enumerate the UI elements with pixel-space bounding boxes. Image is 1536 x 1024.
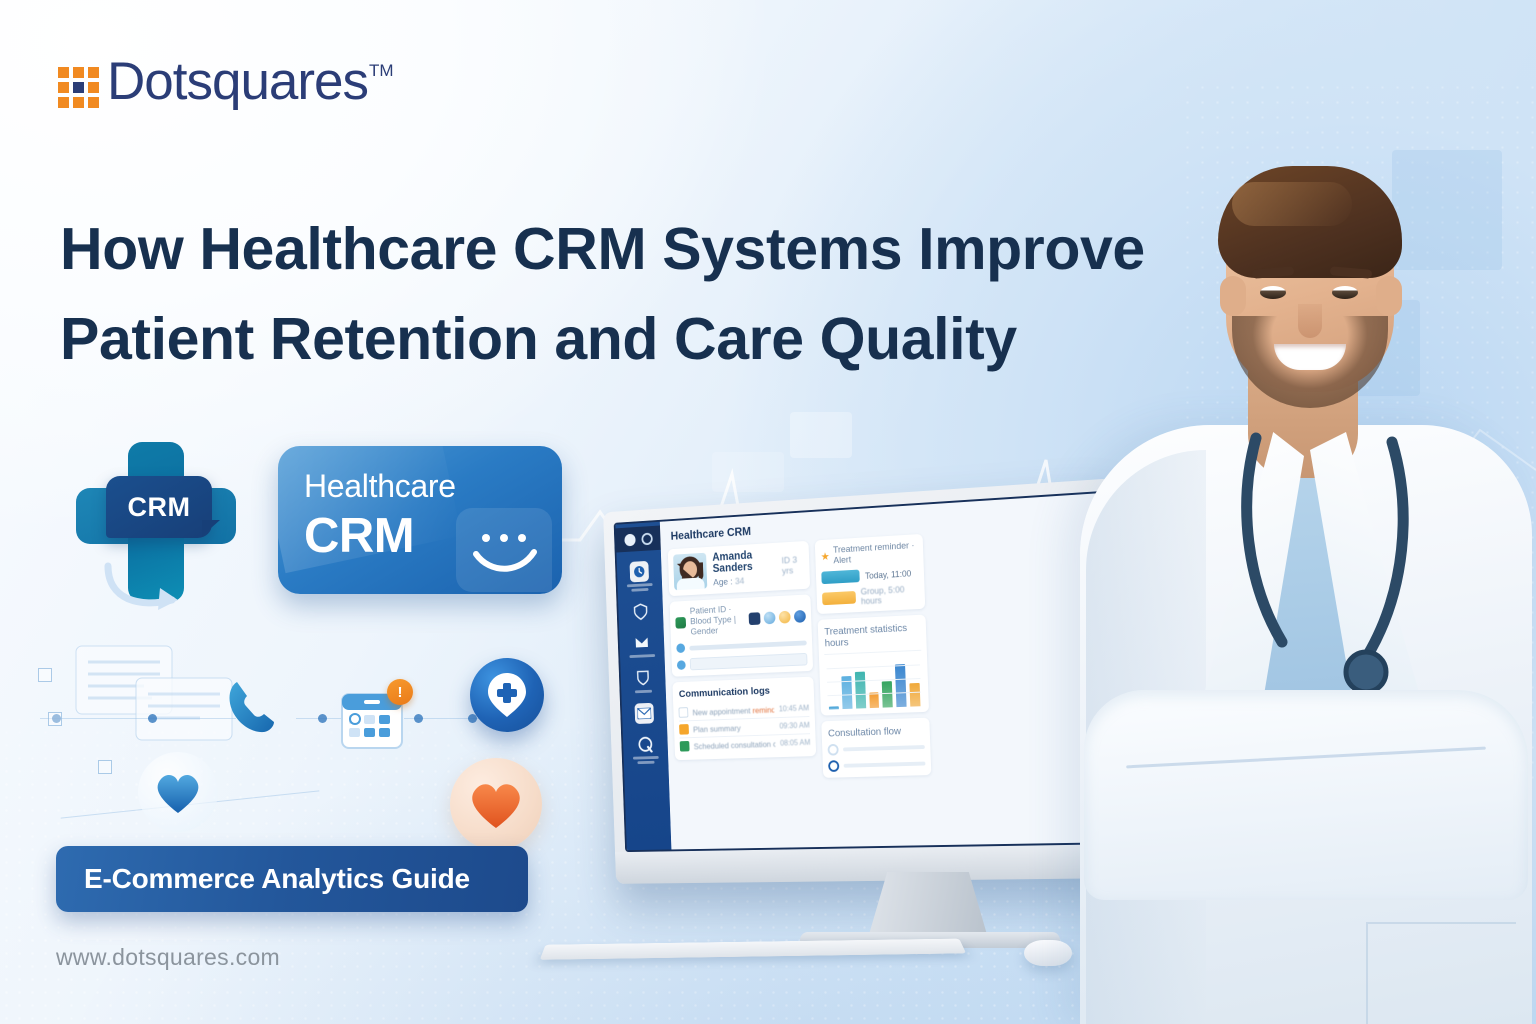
log-text: New appointment reminder [692,704,774,716]
settings-icon [636,734,656,755]
list-item[interactable] [828,758,925,772]
crm-card-line-1: Healthcare [304,468,456,505]
progress-ring-icon [828,744,839,756]
settings-ring-icon [641,532,653,545]
calendar-icon: ! [340,688,404,750]
crm-badge-cluster: CRM Healthcare CRM [50,432,530,622]
brand-name: Dotsquares [107,55,368,108]
crm-dashboard-screen[interactable]: Healthcare CRM [614,491,1115,852]
list-item[interactable] [828,741,925,756]
calendar-badge: ! [387,679,413,705]
alert-time: Today, 11:00 [865,568,911,580]
bar-Thu [869,692,879,708]
mail-icon [634,703,654,724]
phone-icon [222,676,284,738]
status-dot-icon [676,643,685,653]
patient-meta: ID 3 yrs [781,555,804,577]
alerts-card[interactable]: ★ Treatment reminder · Alert Today, 11:0… [815,534,926,614]
detail-line [689,640,806,650]
stethoscope-icon [1216,432,1446,732]
consultation-card[interactable]: Consultation flow [821,718,931,778]
bar-Fri [882,681,893,708]
crm-bubble-label: CRM [128,492,191,523]
dashboard-main: Healthcare CRM [660,493,1113,849]
record-icon [675,616,686,628]
detail-field[interactable] [690,653,808,670]
app-logo-dot-icon [624,533,635,546]
list-item[interactable]: Today, 11:00 [821,566,918,584]
crm-card-line-2: CRM [304,508,414,564]
alerts-title: Treatment reminder · Alert [833,540,918,566]
dotsquares-grid-icon [58,67,99,108]
patient-id-text: Patient ID · Blood Type | Gender [690,604,745,638]
desktop-monitor: Healthcare CRM [603,478,1127,884]
consultation-title: Consultation flow [828,725,925,740]
smile-face-icon [456,508,552,592]
poster-canvas: Dotsquares TM How Healthcare CRM Systems… [0,0,1536,1024]
sidebar-item-patients[interactable] [629,632,656,658]
site-url: www.dotsquares.com [56,944,280,971]
patient-name: Amanda Sanders [712,549,776,575]
patient-age-value: 34 [735,576,745,587]
bar-Wed [855,672,866,709]
chip-action-info[interactable] [764,611,776,624]
doctor-photo [1066,80,1536,1024]
cta-banner-label: E-Commerce Analytics Guide [84,863,470,895]
chip-action-warning[interactable] [779,611,791,624]
progress-bar [843,745,925,751]
log-text: Scheduled consultation call [694,739,776,751]
chart-title: Treatment statistics hours [824,622,921,650]
sidebar-item-reports[interactable] [633,667,653,693]
brand-logo[interactable]: Dotsquares TM [58,55,394,108]
patient-card[interactable]: Amanda Sanders Age : 34 ID 3 yrs [668,541,810,596]
log-time: 08:05 AM [780,738,811,748]
patient-id-card[interactable]: Patient ID · Blood Type | Gender [670,594,814,676]
log-time: 10:45 AM [779,704,810,714]
bar-chart [824,650,923,710]
log-checkbox[interactable] [680,741,690,752]
log-checkbox[interactable] [678,707,688,718]
heart-blue-icon [138,752,218,832]
dashboard-icon [630,561,650,583]
log-text: Plan summary [693,722,775,734]
patient-age-label: Age : [713,577,733,588]
dashboard-window-controls [616,526,661,553]
communication-logs-title: Communication logs [679,684,809,700]
patients-icon [632,632,652,653]
list-item[interactable]: Group, 5:00 hours [822,584,920,608]
progress-bar [844,762,926,768]
status-badge [822,591,856,605]
sidebar-item-records[interactable] [631,601,651,622]
headline-line-1: How Healthcare CRM Systems Improve [60,216,1145,282]
sidebar-item-messages[interactable] [634,703,654,724]
shield-icon [631,601,651,622]
monitor-stand [868,872,988,938]
bar-Sun [910,683,921,707]
refresh-arrow-icon [102,560,188,616]
mouse[interactable] [1024,940,1072,966]
trademark-mark: TM [369,61,394,81]
crm-chat-bubble: CRM [106,476,212,538]
sidebar-item-dashboard[interactable] [626,561,653,592]
log-checkbox[interactable] [679,724,689,735]
reports-icon [633,667,653,688]
heart-care-icon [450,758,542,850]
status-dot-icon [677,660,686,670]
page-title: How Healthcare CRM Systems Improve Patie… [60,205,1180,384]
patient-avatar [673,553,707,591]
progress-ring-icon [828,760,839,772]
communication-logs-card[interactable]: Communication logs New appointment remin… [672,677,816,761]
list-item[interactable]: Scheduled consultation call 08:05 AM [680,734,811,754]
headline-line-2: Patient Retention and Care Quality [60,295,1180,385]
healthcare-crm-card: Healthcare CRM [278,446,562,594]
chip-action-blue[interactable] [794,610,806,623]
patient-pin-icon [470,658,544,732]
star-icon: ★ [820,550,829,563]
bar-Mon [829,706,839,709]
status-badge [821,570,860,585]
cta-banner[interactable]: E-Commerce Analytics Guide [56,846,528,912]
chip-action-primary[interactable] [749,612,761,625]
bar-Sat [895,664,907,707]
treatment-chart-card[interactable]: Treatment statistics hours [818,615,929,716]
log-time: 09:30 AM [779,721,810,731]
sidebar-item-settings[interactable] [632,734,659,765]
alert-time: Group, 5:00 hours [861,584,920,606]
